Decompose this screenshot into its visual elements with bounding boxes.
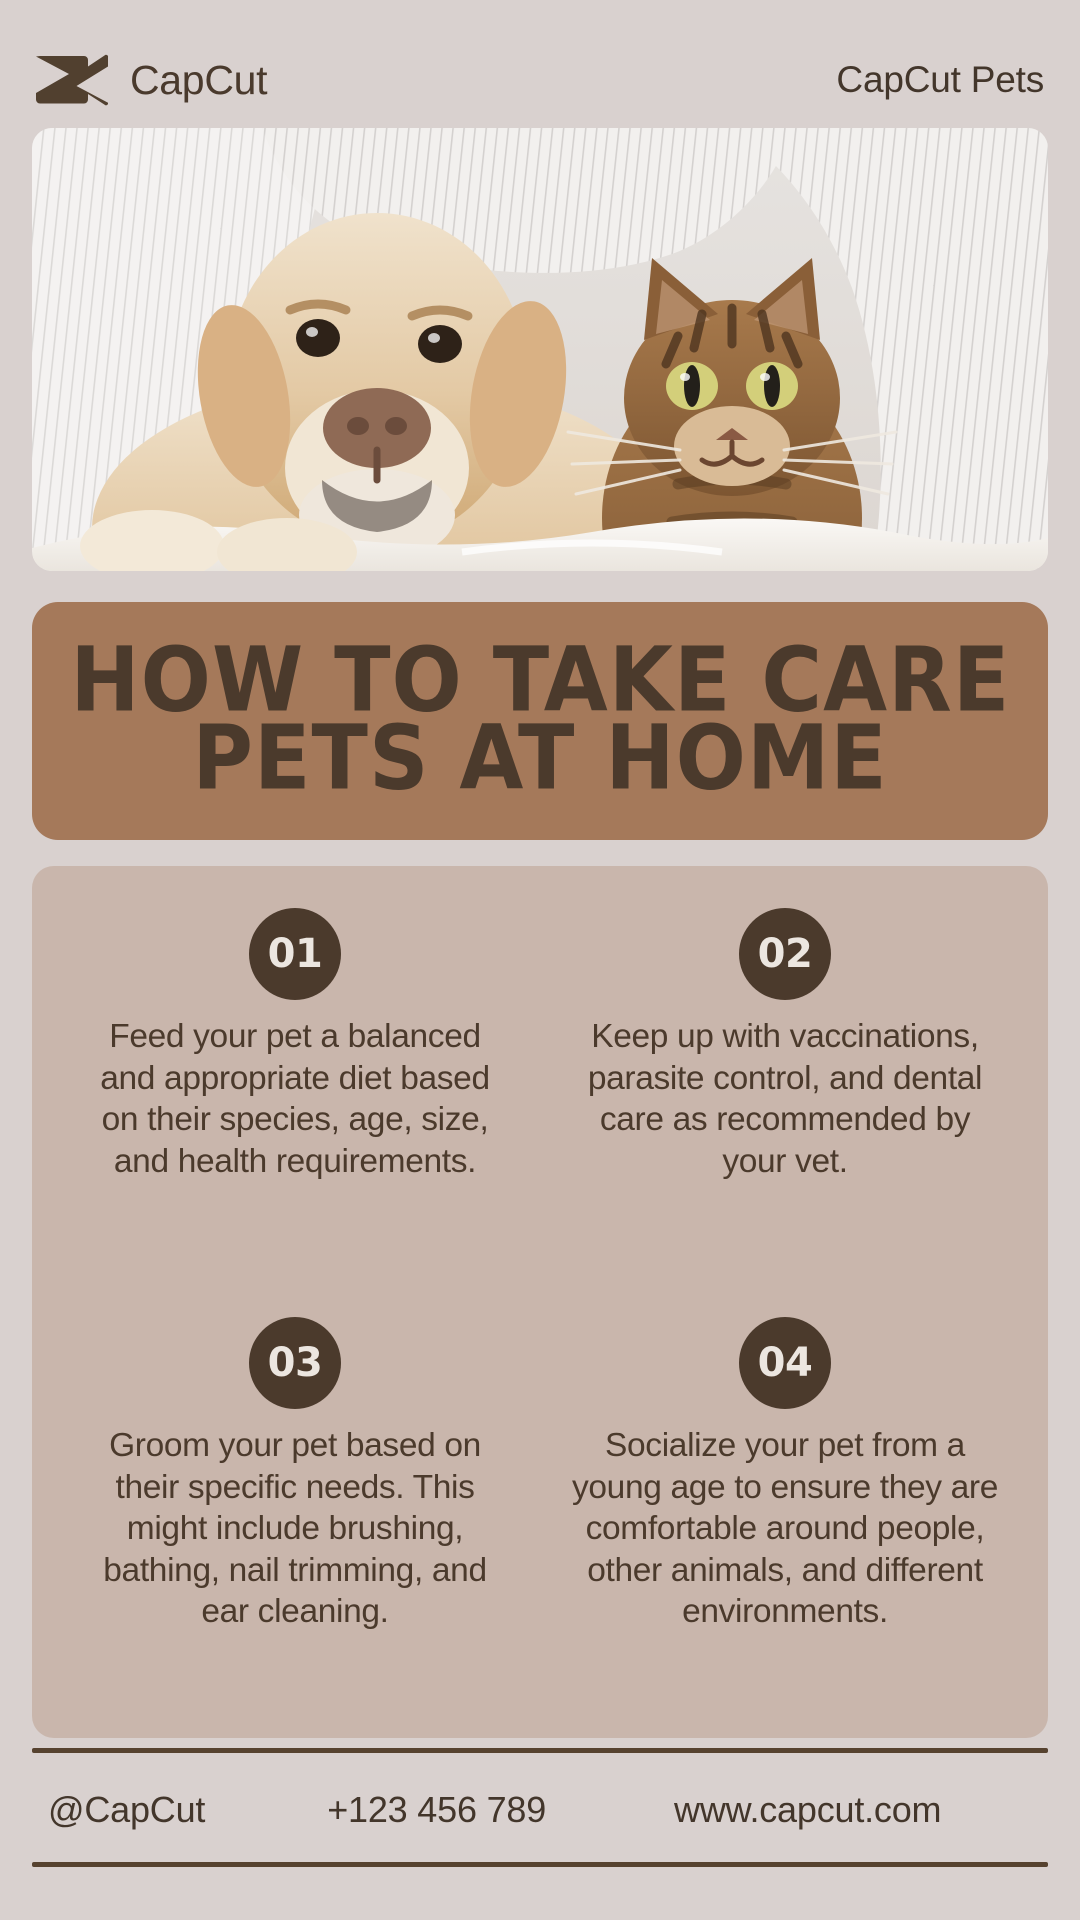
header-right-label: CapCut Pets	[836, 59, 1044, 101]
tip-item: 01 Feed your pet a balanced and appropri…	[58, 908, 532, 1307]
brand: CapCut	[36, 52, 267, 108]
tip-number: 04	[758, 1343, 813, 1383]
page-title-line-2: PETS AT HOME	[192, 717, 888, 803]
tip-number-badge: 02	[739, 908, 831, 1000]
tip-description: Socialize your pet from a young age to e…	[570, 1425, 1000, 1633]
capcut-logo-icon	[36, 52, 112, 108]
tip-number: 02	[758, 934, 813, 974]
dog-and-cat-photo-illustration	[32, 128, 1048, 571]
tip-number-badge: 04	[739, 1317, 831, 1409]
infographic-page: CapCut CapCut Pets	[0, 0, 1080, 1920]
header: CapCut CapCut Pets	[36, 48, 1044, 112]
footer-website[interactable]: www.capcut.com	[674, 1789, 941, 1831]
tip-item: 02 Keep up with vaccinations, parasite c…	[548, 908, 1022, 1307]
tip-item: 03 Groom your pet based on their specifi…	[58, 1317, 532, 1716]
tip-number: 01	[268, 934, 323, 974]
tip-description: Feed your pet a balanced and appropriate…	[85, 1016, 505, 1182]
title-banner: HOW TO TAKE CARE PETS AT HOME	[32, 602, 1048, 840]
tip-number-badge: 03	[249, 1317, 341, 1409]
hero-photo	[32, 128, 1048, 571]
footer: @CapCut +123 456 789 www.capcut.com	[32, 1764, 1048, 1856]
tips-card: 01 Feed your pet a balanced and appropri…	[32, 866, 1048, 1738]
footer-phone[interactable]: +123 456 789	[327, 1789, 546, 1831]
tip-number: 03	[268, 1343, 323, 1383]
footer-social-handle[interactable]: @CapCut	[48, 1789, 205, 1831]
tip-description: Keep up with vaccinations, parasite cont…	[575, 1016, 995, 1182]
tip-item: 04 Socialize your pet from a young age t…	[548, 1317, 1022, 1716]
footer-divider-top	[32, 1748, 1048, 1753]
footer-divider-bottom	[32, 1862, 1048, 1867]
tip-description: Groom your pet based on their specific n…	[80, 1425, 510, 1633]
tip-number-badge: 01	[249, 908, 341, 1000]
brand-name: CapCut	[130, 60, 267, 101]
